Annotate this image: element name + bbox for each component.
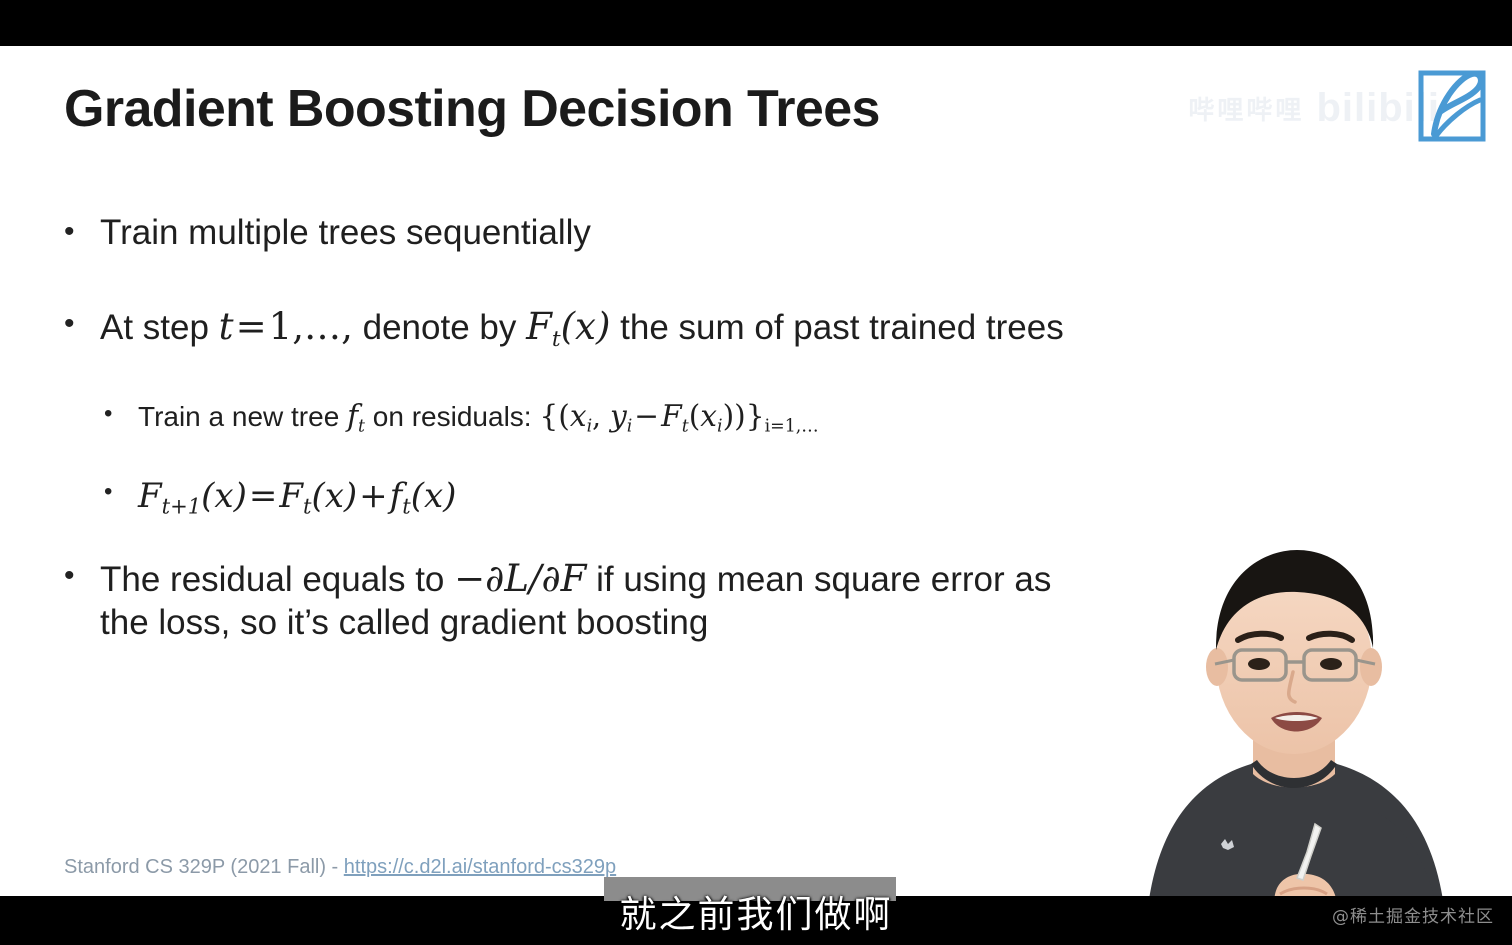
math-F2-subscript: t <box>682 417 689 437</box>
math-lparen: ( <box>689 398 701 433</box>
presenter-video-overlay <box>1075 512 1512 896</box>
bullet-text-3: Train a new tree ft on residuals: {(xi, … <box>138 398 819 438</box>
math-F1: F <box>138 476 162 516</box>
bilibili-watermark-cn: 哔哩哔哩 <box>1188 95 1304 125</box>
bullet-text: Train multiple trees sequentially <box>100 212 591 255</box>
bullet-text-4: Ft+1(x)=Ft(x)+ft(x) <box>138 476 456 519</box>
bullet-marker: • <box>104 398 138 430</box>
bullet2-mid: denote by <box>353 308 526 347</box>
subtitle-text: 就之前我们做啊 <box>0 884 1512 938</box>
bullet3-prefix: Train a new tree <box>138 401 347 432</box>
bullet-item-1: • Train multiple trees sequentially <box>64 212 591 255</box>
bullet-item-4: • Ft+1(x)=Ft(x)+ft(x) <box>104 476 456 519</box>
math-set-close: ))} <box>723 398 765 433</box>
bullet-text-5: The residual equals to −∂L/∂F if using m… <box>100 556 1051 644</box>
math-F2: F <box>661 398 682 433</box>
math-partial-derivative: −∂L/∂F <box>454 557 586 600</box>
slide-canvas: Gradient Boosting Decision Trees 哔哩哔哩 bi… <box>0 46 1512 896</box>
bullet5-line2: the loss, so it’s called gradient boosti… <box>100 603 708 642</box>
math-F1-subscript: t+1 <box>162 494 202 519</box>
math-comma: , <box>592 400 610 433</box>
math-minus: − <box>632 398 661 433</box>
bullet5-prefix: The residual equals to <box>100 560 454 599</box>
math-fb: f <box>390 476 403 516</box>
bilibili-watermark: 哔哩哔哩 bilibili <box>1188 86 1440 131</box>
footer-course-link[interactable]: https://c.d2l.ai/stanford-cs329p <box>344 856 616 878</box>
math-F1-args: (x) <box>201 476 247 516</box>
math-f: f <box>347 398 358 433</box>
bullet5-mid: if using mean square error as <box>586 560 1051 599</box>
math-equals: = <box>234 305 269 348</box>
math-x2: x <box>700 398 717 433</box>
math-set-index: i=1,… <box>765 417 819 437</box>
bullet-item-2: • At step t=1,…, denote by Ft(x) the sum… <box>64 304 1424 353</box>
math-set-open: {( <box>539 398 569 433</box>
bullet-marker: • <box>64 304 100 345</box>
bullet-marker: • <box>64 556 100 597</box>
bullet-marker: • <box>104 476 138 508</box>
math-one-ellipsis: 1,…, <box>269 305 353 348</box>
math-F-args: (x) <box>561 305 611 348</box>
math-F2b-args: (x) <box>311 476 357 516</box>
math-F: F <box>526 305 552 348</box>
video-player-stage: Gradient Boosting Decision Trees 哔哩哔哩 bi… <box>0 0 1512 945</box>
community-watermark: @稀土掘金技术社区 <box>1332 902 1494 927</box>
math-F2b: F <box>279 476 303 516</box>
bullet3-mid: on residuals: <box>365 401 539 432</box>
bullet2-suffix: the sum of past trained trees <box>610 308 1063 347</box>
math-x: x <box>570 398 587 433</box>
math-plus: + <box>357 476 390 516</box>
bullet-item-3: • Train a new tree ft on residuals: {(xi… <box>104 398 819 438</box>
page-title: Gradient Boosting Decision Trees <box>64 79 880 139</box>
bullet2-prefix: At step <box>100 308 219 347</box>
math-fb-subscript: t <box>402 494 410 519</box>
bullet-marker: • <box>64 212 100 253</box>
letterbox-top <box>0 0 1512 46</box>
math-var-t: t <box>219 305 234 348</box>
math-equals-2: = <box>247 476 280 516</box>
bullet-text-2: At step t=1,…, denote by Ft(x) the sum o… <box>100 304 1064 353</box>
presenter-figure <box>1075 512 1512 896</box>
footer: Stanford CS 329P (2021 Fall) - https://c… <box>64 856 616 879</box>
math-F-subscript: t <box>552 327 561 352</box>
d2l-book-logo-icon <box>1414 64 1492 146</box>
math-y: y <box>610 398 627 433</box>
footer-course-label: Stanford CS 329P (2021 Fall) - <box>64 856 344 878</box>
math-f-subscript: t <box>358 417 365 437</box>
math-fb-args: (x) <box>411 476 457 516</box>
